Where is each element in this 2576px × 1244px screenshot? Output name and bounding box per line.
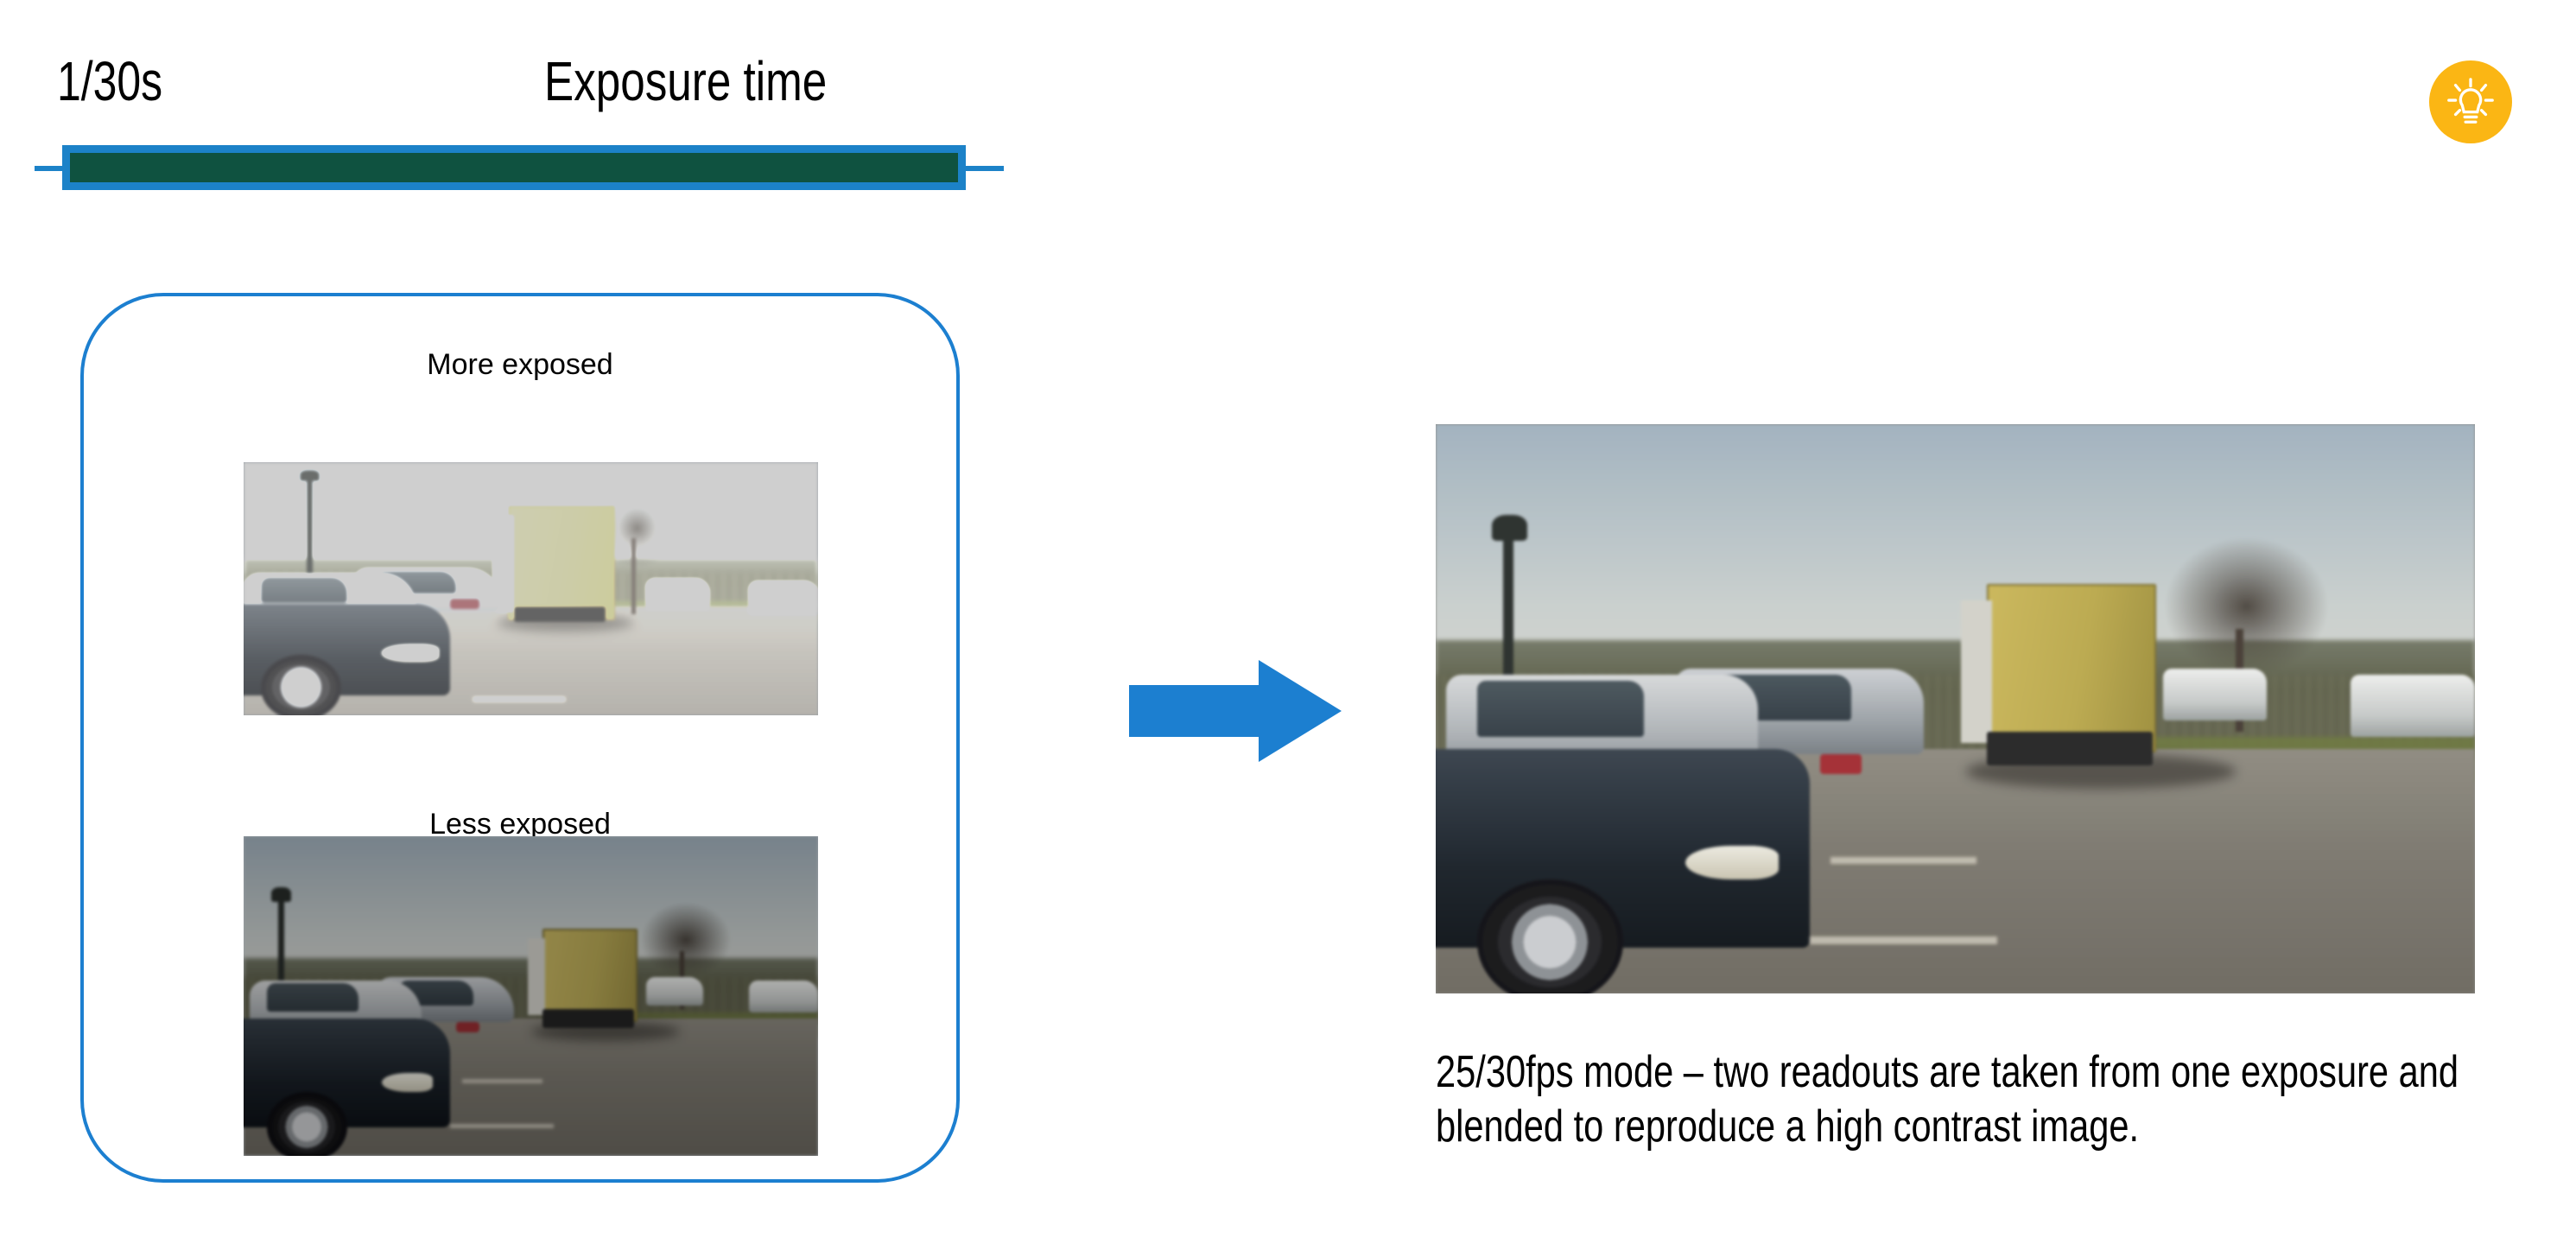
exposure-comparison-panel: More exposed [80,293,960,1183]
right-arrow-icon [1129,658,1342,764]
result-caption: 25/30fps mode – two readouts are taken f… [1436,1045,2569,1155]
more-exposed-label: More exposed [84,350,956,379]
less-exposed-label: Less exposed [84,809,956,839]
timeline-tail-line [959,166,1004,171]
exposure-timeline [0,145,1080,194]
lightbulb-icon [2429,60,2512,143]
less-exposed-image [244,836,818,1156]
exposure-duration-bar [62,145,966,190]
more-exposed-image [244,462,818,715]
blended-result-image [1436,424,2475,993]
exposure-value-label: 1/30s [57,54,162,109]
exposure-time-label: Exposure time [544,54,827,109]
